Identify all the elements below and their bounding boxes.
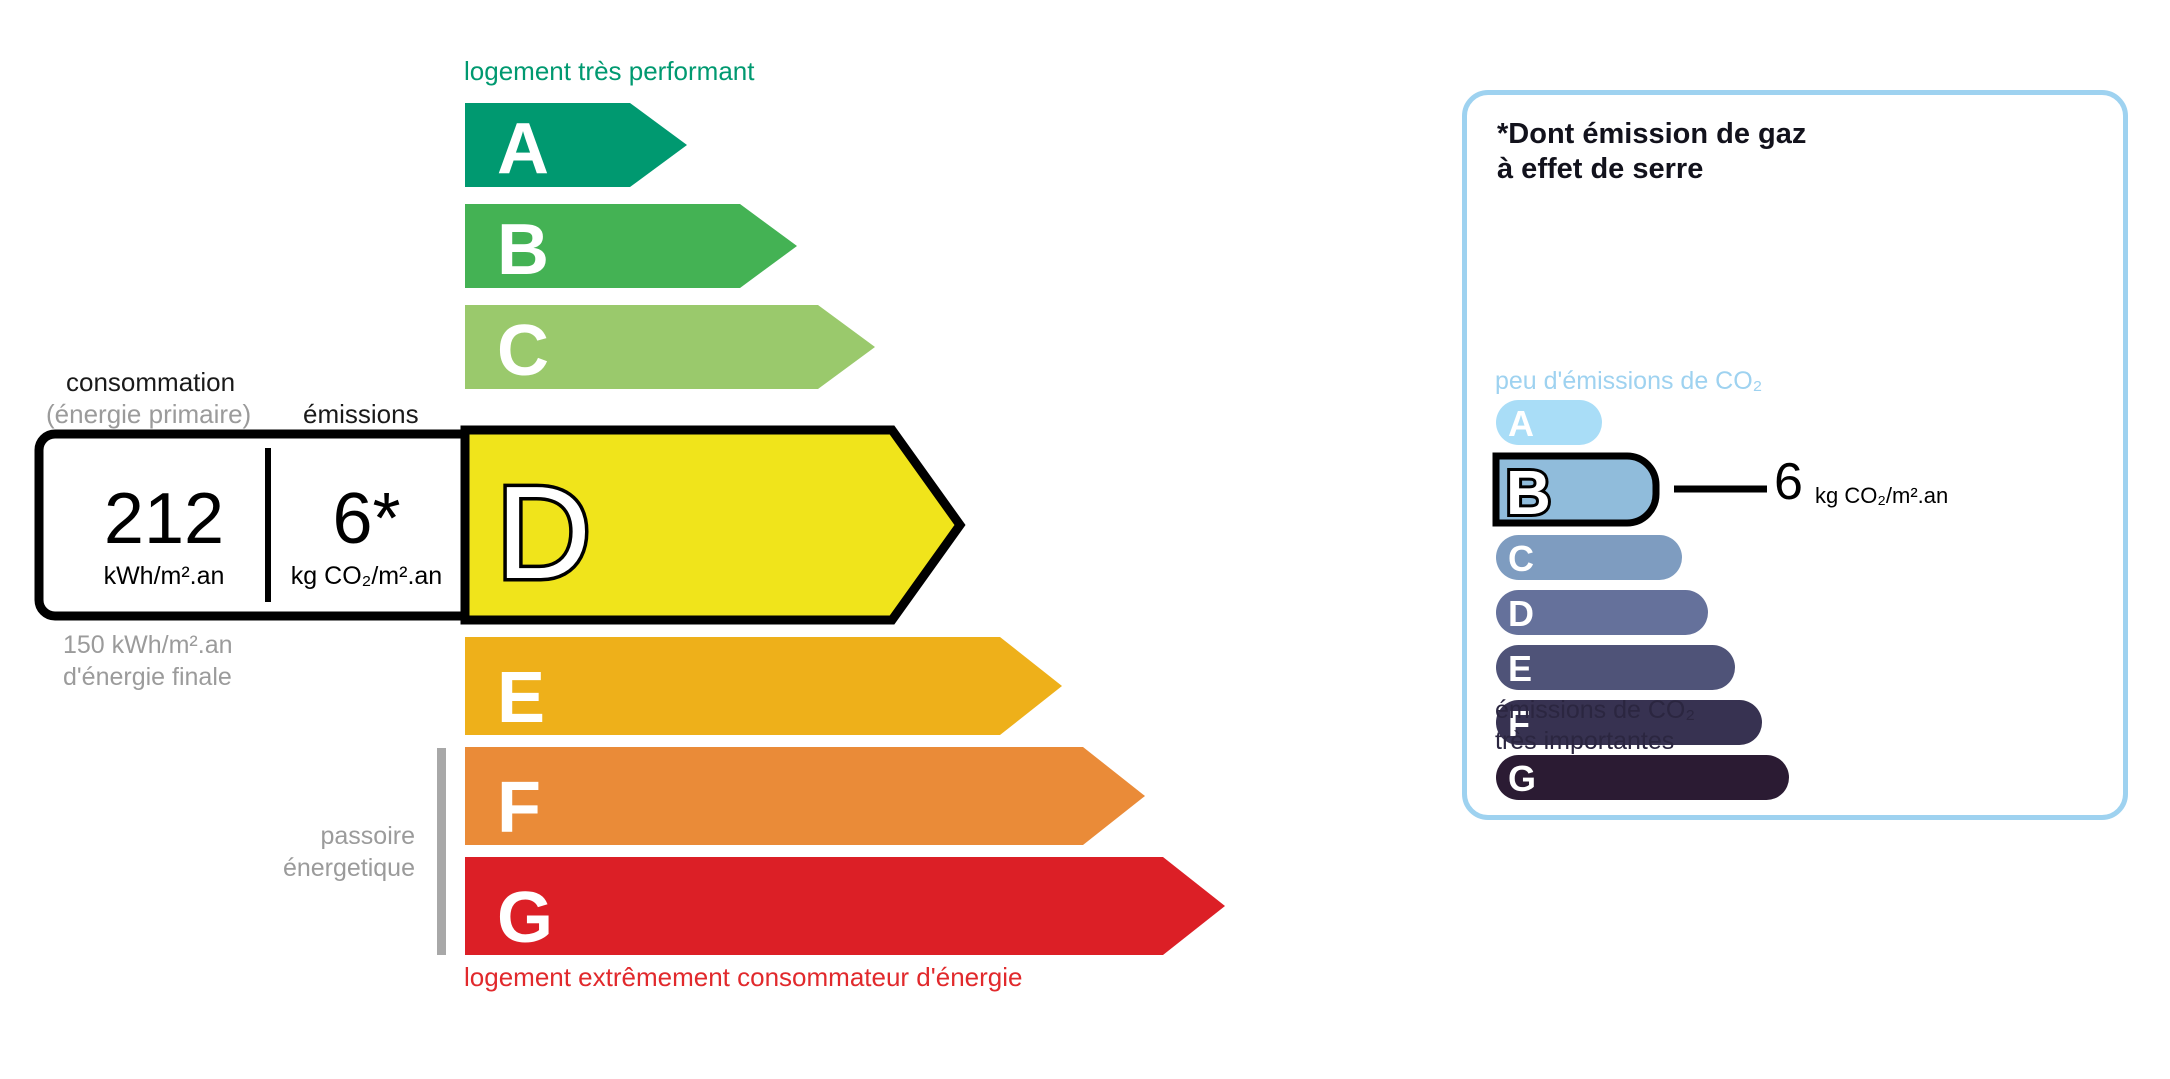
consumption-value: 212 [64,477,264,562]
energy-band-c-letter: C [497,311,549,391]
passoire-rule [437,748,446,955]
co2-band-d[interactable]: D [1496,590,1708,635]
final-energy-value: 150 kWh/m².an [63,629,233,662]
energy-band-b-letter: B [497,210,549,290]
energy-band-b[interactable]: B [465,204,797,290]
co2-bottom-label: émissions de CO₂très importantes [1495,695,1695,758]
co2-band-g-letter: G [1508,758,1536,799]
consumption-header-label: consommation [66,367,235,398]
energy-bottom-caption: logement extrêmement consommateur d'éner… [464,962,1022,993]
co2-bottom-line1: émissions de CO₂ [1495,696,1695,724]
energy-band-g-letter: G [497,878,553,958]
co2-band-a[interactable]: A [1496,400,1602,445]
energy-band-a[interactable]: A [465,103,687,189]
energy-band-e-letter: E [497,658,545,738]
co2-band-d-letter: D [1508,593,1534,634]
energy-band-e[interactable]: E [465,637,1062,738]
consumption-unit: kWh/m².an [64,562,264,592]
co2-band-g[interactable]: G [1496,755,1789,800]
co2-bottom-line2: très importantes [1495,727,1674,755]
co2-band-c-letter: C [1508,538,1534,579]
co2-band-b-letter: B [1506,459,1551,528]
energy-band-c[interactable]: C [465,305,875,391]
co2-value-unit: kg CO₂/m².an [1815,483,1948,509]
co2-band-c[interactable]: C [1496,535,1682,580]
energy-band-f[interactable]: F [465,747,1145,848]
co2-band-a-letter: A [1508,403,1534,444]
co2-band-e-letter: E [1508,648,1532,689]
energy-band-d[interactable]: D [465,430,960,620]
emissions-header-label: émissions [303,399,419,430]
consumption-header-sublabel: (énergie primaire) [46,399,251,430]
co2-band-b[interactable]: B [1496,456,1767,528]
co2-band-e[interactable]: E [1496,645,1735,690]
energy-band-g[interactable]: G [465,857,1225,958]
energy-band-d-letter: D [496,459,591,606]
passoire-label-line1: passoire [220,820,415,853]
energy-band-a-letter: A [497,109,549,189]
final-energy-label: d'énergie finale [63,661,232,694]
energy-band-f-letter: F [497,768,541,848]
co2-panel: *Dont émission de gazà effet de serre pe… [1462,90,2128,820]
dpe-label: logement très performant A B C [0,0,2170,1079]
co2-value: 6 [1774,452,1803,512]
emission-value: 6* [274,477,459,562]
passoire-label-line2: énergetique [220,852,415,885]
emission-unit: kg CO₂/m².an [274,562,459,592]
